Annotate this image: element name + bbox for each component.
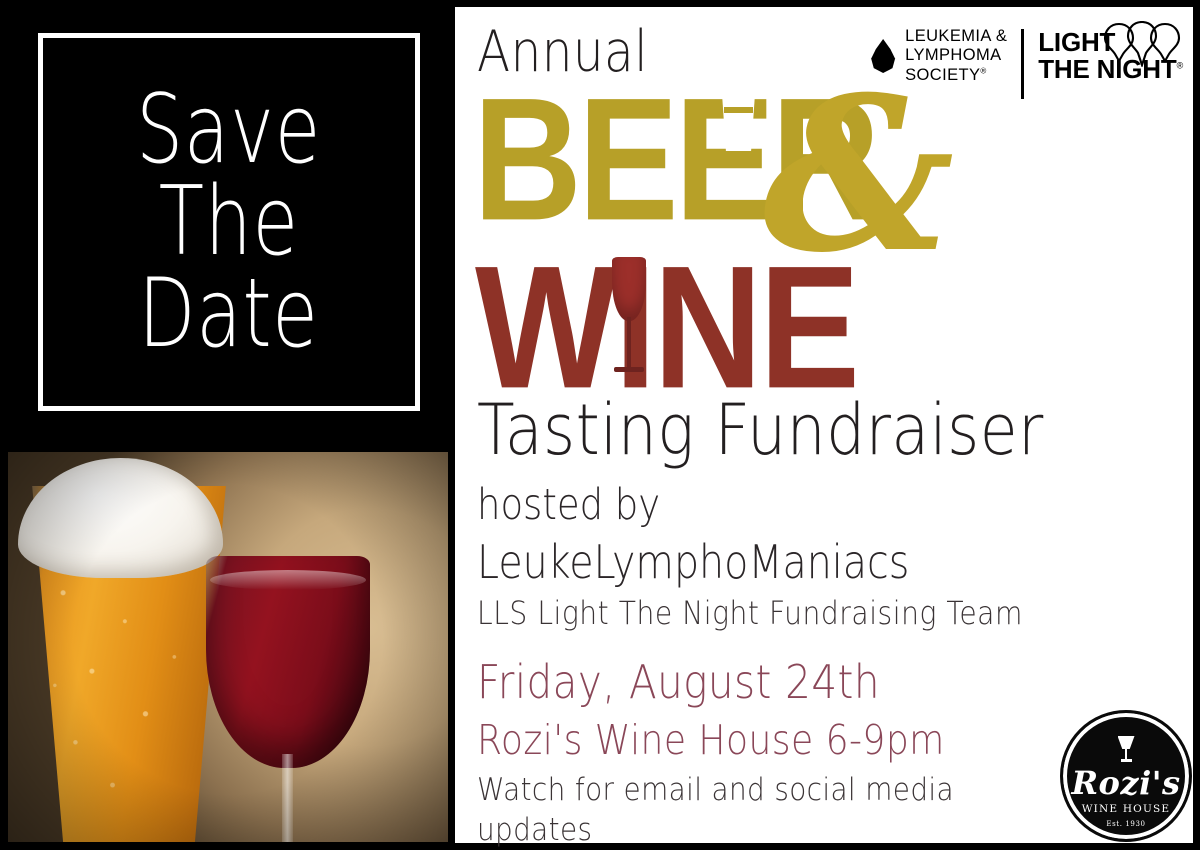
rozis-logo-subtitle: WINE HOUSE [1082, 803, 1171, 815]
beer-glass-cutout-icon [720, 97, 757, 151]
rozis-logo-established: Est. 1930 [1106, 820, 1145, 828]
headline-subtitle: Tasting Fundraiser [477, 389, 1044, 471]
three-balloons-icon [1103, 21, 1181, 72]
save-the-date-line-3: Date [139, 268, 319, 360]
wine-glass-letter-stem [627, 317, 631, 369]
hosted-by-label: hosted by [477, 480, 660, 530]
wine-glass-icon-stem [1125, 749, 1127, 759]
main-content-panel: LEUKEMIA & LYMPHOMA SOCIETY® LIGHT THE N [455, 7, 1193, 843]
wine-glass-letter-icon [606, 257, 652, 383]
wine-glass-icon-bowl [1118, 736, 1135, 749]
wine-glass-icon-foot [1121, 759, 1132, 762]
beer-and-wine-photo [8, 452, 448, 842]
decorative-ampersand: & [763, 69, 954, 281]
logo-divider [1021, 29, 1024, 99]
save-the-date-panel: Save The Date [38, 33, 420, 411]
wine-glass-icon [1118, 736, 1135, 766]
save-the-date-line-1: Save [136, 84, 321, 176]
lls-logo-line-1: LEUKEMIA & [905, 27, 1007, 46]
photo-vignette [8, 452, 448, 842]
beer-and-wine-wordmark: BEER WINE & [473, 73, 903, 383]
event-flyer: Save The Date [0, 0, 1200, 850]
event-note-line-1: Watch for email and social media updates [477, 771, 1017, 850]
event-venue-and-time: Rozi's Wine House 6-9pm [477, 716, 945, 764]
wine-glass-letter-bowl [612, 257, 646, 321]
save-the-date-text-stack: Save The Date [54, 49, 404, 395]
host-team-description: LLS Light The Night Fundraising Team [477, 594, 1023, 632]
wine-glass-letter-foot [614, 367, 644, 372]
save-the-date-line-2: The [159, 176, 299, 268]
rozis-wine-house-logo: Rozi's WINE HOUSE Est. 1930 [1060, 710, 1192, 842]
host-team-name: LeukeLymphoManiacs [477, 535, 909, 589]
rozis-logo-name: Rozi's [1071, 767, 1180, 799]
lls-registered-mark: ® [980, 66, 986, 75]
event-date: Friday, August 24th [477, 655, 880, 709]
light-the-night-logo: LIGHT THE NIGHT® [1038, 27, 1183, 82]
event-note: Watch for email and social media updates… [477, 771, 1017, 850]
left-column: Save The Date [0, 0, 455, 850]
